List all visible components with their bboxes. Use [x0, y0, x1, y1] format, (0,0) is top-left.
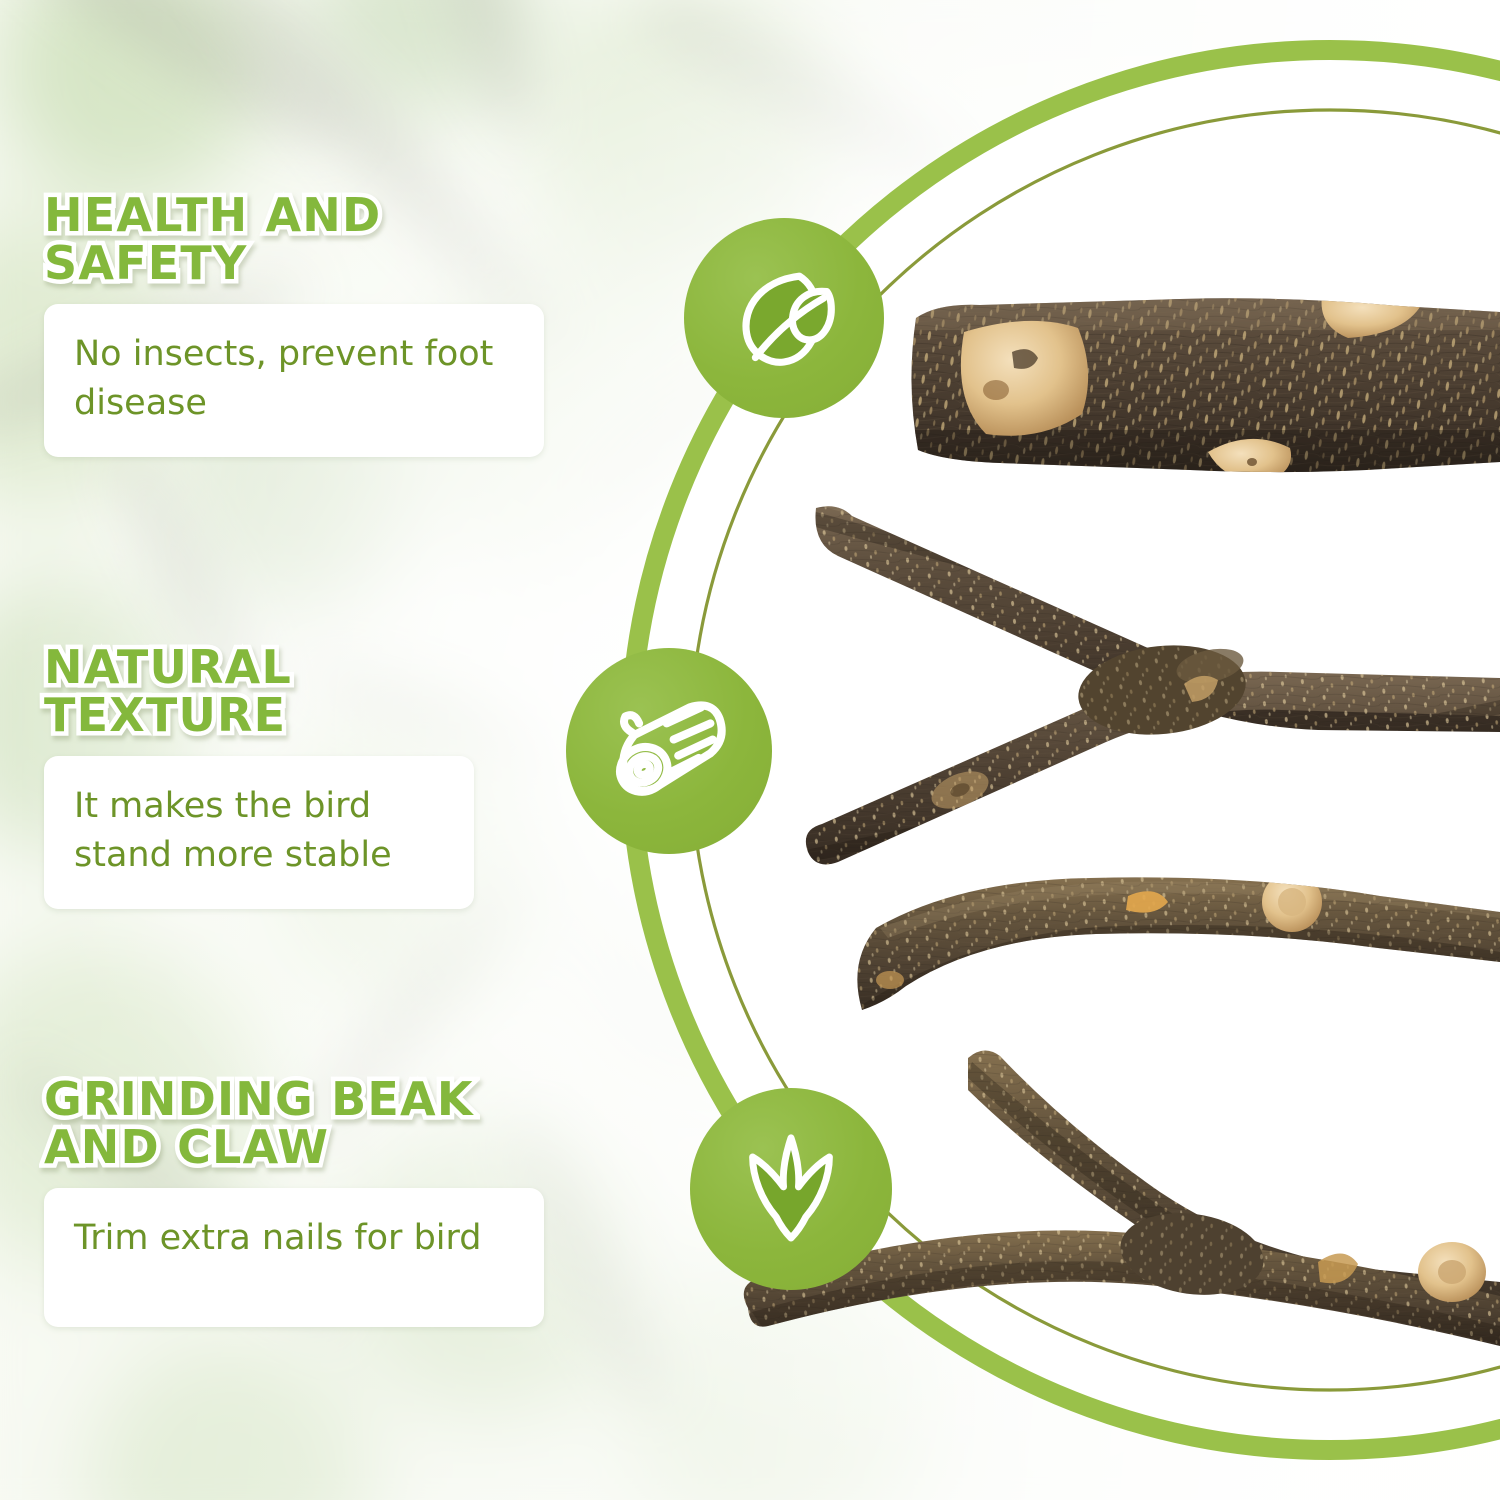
feature-description-card: Trim extra nails for bird	[44, 1188, 544, 1328]
feature-description-card: It makes the bird stand more stable	[44, 756, 474, 909]
leaf-icon	[718, 252, 850, 384]
feature-description-card: No insects, prevent foot disease	[44, 304, 544, 457]
branch-forked-upper	[790, 490, 1500, 890]
feature-icon-bubble-health[interactable]	[684, 218, 884, 418]
branch-curved	[840, 860, 1500, 1030]
feature-block-claw: GRINDING BEAK AND CLAW Trim extra nails …	[44, 1076, 544, 1327]
bird-claw-icon	[727, 1125, 855, 1253]
infographic-canvas: HEALTH AND SAFETY No insects, prevent fo…	[0, 0, 1500, 1500]
feature-block-health: HEALTH AND SAFETY No insects, prevent fo…	[44, 192, 544, 457]
log-icon	[600, 682, 738, 820]
feature-description: Trim extra nails for bird	[74, 1214, 514, 1264]
feature-description: No insects, prevent foot disease	[74, 330, 514, 429]
feature-icon-bubble-claw[interactable]	[690, 1088, 892, 1290]
feature-description: It makes the bird stand more stable	[74, 782, 444, 881]
feature-title: HEALTH AND SAFETY	[44, 192, 544, 288]
feature-block-texture: NATURAL TEXTURE It makes the bird stand …	[44, 644, 474, 909]
feature-title: NATURAL TEXTURE	[44, 644, 474, 740]
feature-icon-bubble-texture[interactable]	[566, 648, 772, 854]
branch-thick-log	[880, 280, 1500, 490]
feature-title: GRINDING BEAK AND CLAW	[44, 1076, 544, 1172]
